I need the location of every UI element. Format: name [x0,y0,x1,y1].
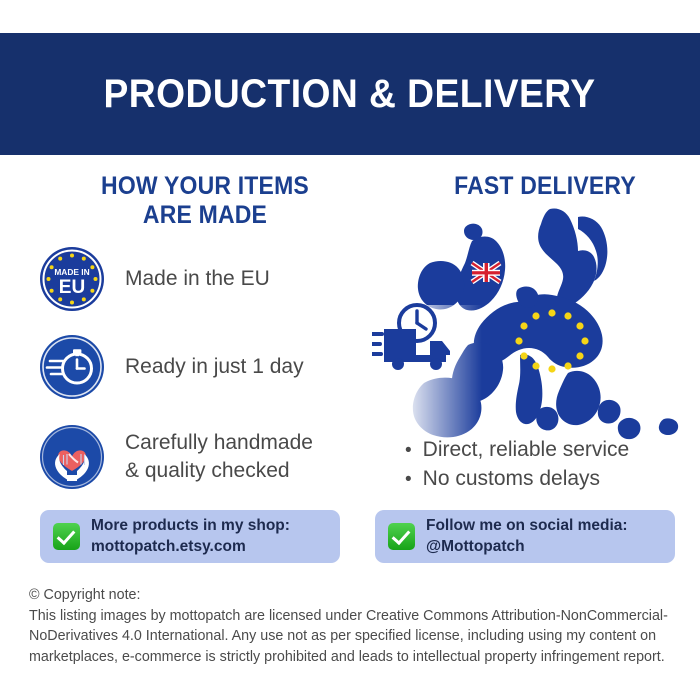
infographic-page: PRODUCTION & DELIVERY HOW YOUR ITEMS ARE… [0,0,700,700]
green-check-icon [388,523,415,550]
feature-row-handmade: Carefully handmade & quality checked [38,423,313,491]
feature-row-made-in-eu: MADE IN EU Made in the EU [38,245,270,313]
delivery-bullet-list: • Direct, reliable service • No customs … [405,436,695,494]
right-column-heading: FAST DELIVERY [407,172,683,201]
svg-text:EU: EU [59,277,85,298]
bullet-text: Direct, reliable service [423,436,630,465]
uk-flag-badge-icon [472,263,500,282]
heart-in-hands-icon [38,423,106,491]
page-title: PRODUCTION & DELIVERY [104,72,596,117]
social-info-text: Follow me on social media: @Mottopatch [426,516,628,557]
made-in-eu-badge-icon: MADE IN EU [38,245,106,313]
bullet-dot-icon: • [405,467,412,493]
list-item: • Direct, reliable service [405,436,695,465]
bullet-dot-icon: • [405,438,412,464]
copyright-note: © Copyright note: This listing images by… [29,585,679,667]
green-check-icon [53,523,80,550]
left-column-heading: HOW YOUR ITEMS ARE MADE [67,172,343,230]
copyright-body: This listing images by mottopatch are li… [29,606,679,668]
shop-info-text: More products in my shop: mottopatch.ets… [91,516,290,557]
social-info-box[interactable]: Follow me on social media: @Mottopatch [375,510,675,563]
feature-row-ready-in-one-day: Ready in just 1 day [38,333,304,401]
feature-label-made-in-eu: Made in the EU [125,265,270,293]
feature-label-ready-in-one-day: Ready in just 1 day [125,353,304,381]
europe-map-illustration [372,205,692,440]
feature-label-handmade: Carefully handmade & quality checked [125,429,313,485]
list-item: • No customs delays [405,465,695,494]
copyright-title: © Copyright note: [29,585,679,606]
svg-text:MADE IN: MADE IN [54,267,89,277]
stopwatch-speed-icon [38,333,106,401]
shop-info-box[interactable]: More products in my shop: mottopatch.ets… [40,510,340,563]
bullet-text: No customs delays [423,465,600,494]
header-banner: PRODUCTION & DELIVERY [0,33,700,155]
